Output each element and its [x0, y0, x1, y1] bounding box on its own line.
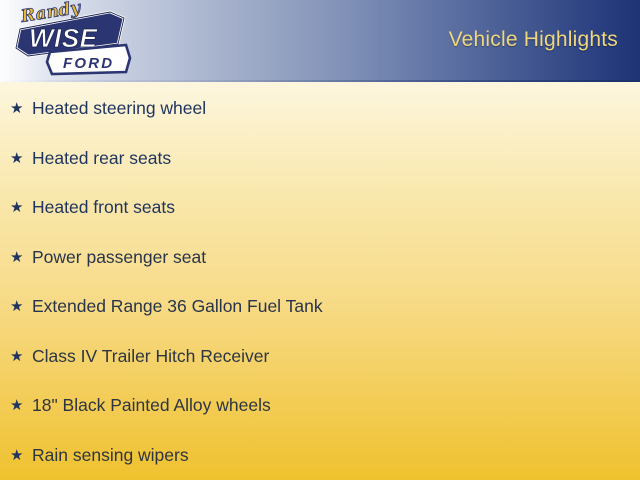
star-icon: ★	[8, 101, 32, 116]
list-item-label: Heated front seats	[32, 197, 175, 217]
list-item: ★ Heated steering wheel	[8, 95, 206, 121]
list-item-label: Heated rear seats	[32, 148, 171, 168]
star-icon: ★	[8, 299, 32, 314]
list-item: ★ Class IV Trailer Hitch Receiver	[8, 343, 269, 369]
star-icon: ★	[8, 250, 32, 265]
page-title: Vehicle Highlights	[449, 28, 618, 52]
randy-wise-ford-logo: WISE FORD Randy	[6, 0, 138, 80]
vehicle-highlights-slide: WISE FORD Randy Vehicle Highlights ★ Hea…	[0, 0, 640, 480]
svg-text:FORD: FORD	[63, 55, 114, 72]
list-item-label: Power passenger seat	[32, 247, 206, 267]
star-icon: ★	[8, 200, 32, 215]
list-item-label: Extended Range 36 Gallon Fuel Tank	[32, 296, 323, 316]
list-item-label: Class IV Trailer Hitch Receiver	[32, 346, 269, 366]
star-icon: ★	[8, 349, 32, 364]
list-item: ★ Extended Range 36 Gallon Fuel Tank	[8, 293, 323, 319]
list-item-label: Heated steering wheel	[32, 98, 206, 118]
star-icon: ★	[8, 448, 32, 463]
slide-header: WISE FORD Randy Vehicle Highlights	[0, 0, 640, 82]
star-icon: ★	[8, 398, 32, 413]
list-item-label: 18" Black Painted Alloy wheels	[32, 395, 271, 415]
list-item: ★ Heated front seats	[8, 194, 175, 220]
list-item: ★ 18" Black Painted Alloy wheels	[8, 392, 271, 418]
list-item: ★ Heated rear seats	[8, 145, 171, 171]
list-item: ★ Rain sensing wipers	[8, 442, 189, 468]
list-item: ★ Power passenger seat	[8, 244, 206, 270]
list-item-label: Rain sensing wipers	[32, 445, 189, 465]
star-icon: ★	[8, 151, 32, 166]
vehicle-highlights-list: ★ Heated steering wheel ★ Heated rear se…	[0, 82, 640, 480]
